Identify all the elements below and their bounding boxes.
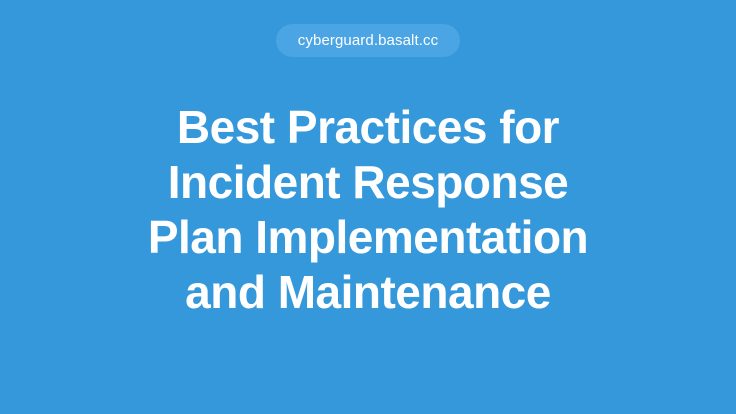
domain-badge[interactable]: cyberguard.basalt.cc (276, 24, 460, 57)
headline-line-2: Incident Response (40, 155, 696, 210)
title-slide: cyberguard.basalt.cc Best Practices for … (0, 0, 736, 414)
headline-line-4: and Maintenance (40, 265, 696, 320)
badge-row: cyberguard.basalt.cc (0, 24, 736, 57)
headline-line-3: Plan Implementation (40, 210, 696, 265)
domain-badge-label: cyberguard.basalt.cc (298, 33, 438, 48)
headline-line-1: Best Practices for (40, 100, 696, 155)
page-title: Best Practices for Incident Response Pla… (0, 100, 736, 320)
